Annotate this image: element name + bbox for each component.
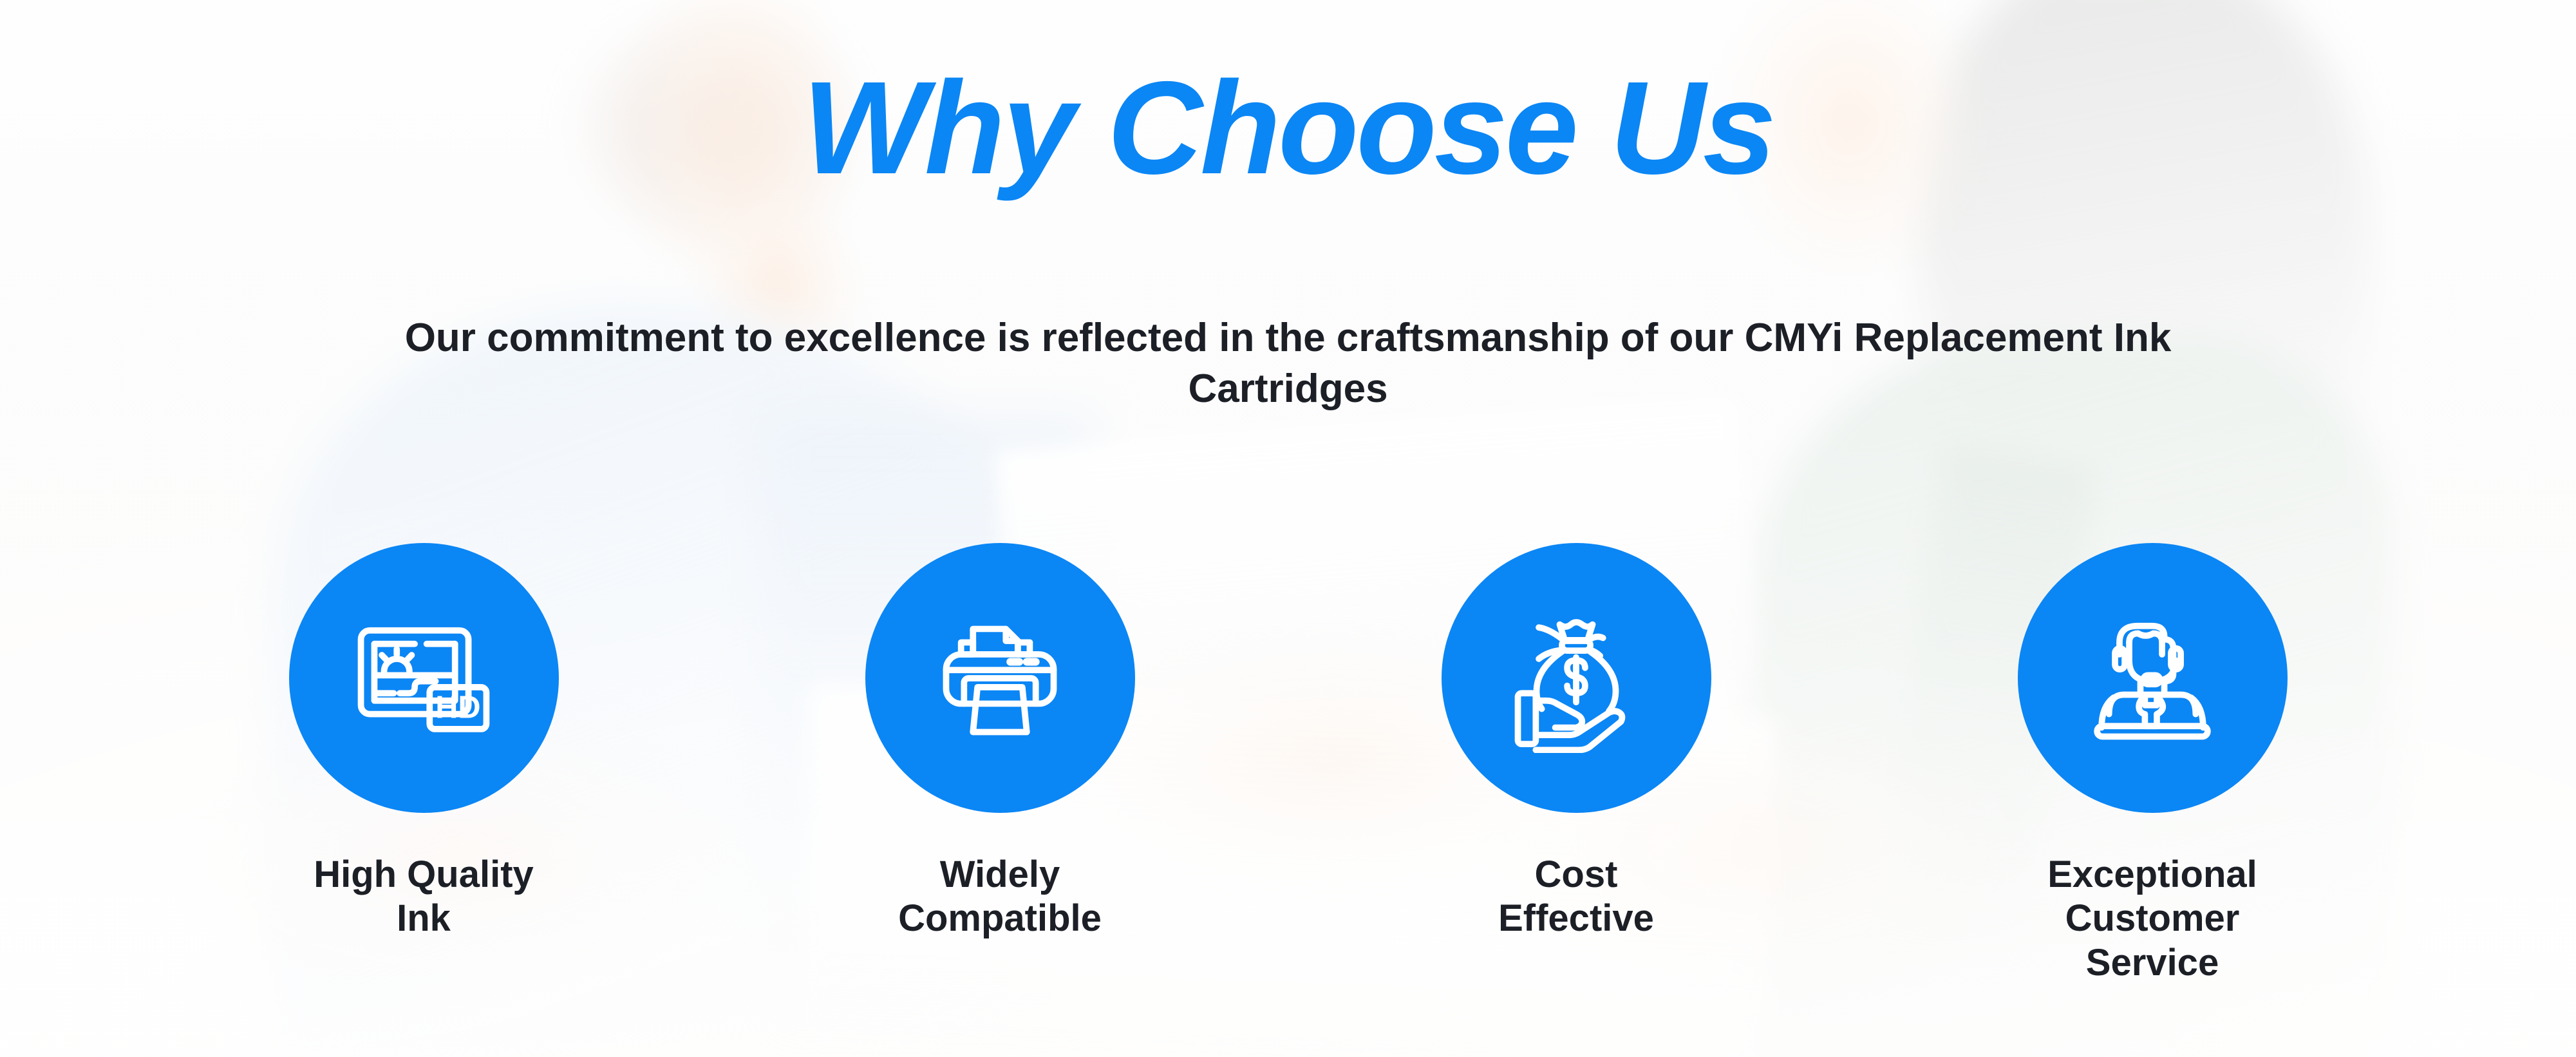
icon-badge-circle: HD xyxy=(289,543,559,813)
feature-label: Exceptional Customer Service xyxy=(2018,853,2288,985)
customer-support-agent-icon xyxy=(2078,604,2227,753)
icon-badge-circle xyxy=(2018,543,2288,813)
hd-badge-label: HD xyxy=(435,690,480,725)
feature-item-customer-service[interactable]: Exceptional Customer Service xyxy=(2018,543,2288,985)
feature-item-cost-effective[interactable]: Cost Effective xyxy=(1442,543,1711,941)
banner-content: Why Choose Us Our commitment to excellen… xyxy=(0,0,2576,1057)
feature-label: High Quality Ink xyxy=(314,853,534,941)
feature-label: Widely Compatible xyxy=(898,853,1102,941)
feature-item-widely-compatible[interactable]: Widely Compatible xyxy=(865,543,1135,941)
feature-label: Cost Effective xyxy=(1498,853,1654,941)
hd-photo-icon: HD xyxy=(349,604,498,753)
icon-badge-circle xyxy=(865,543,1135,813)
hand-holding-money-bag-icon xyxy=(1501,604,1651,753)
page-title: Why Choose Us xyxy=(0,62,2576,194)
why-choose-us-banner: Why Choose Us Our commitment to excellen… xyxy=(0,0,2576,1057)
feature-item-high-quality-ink[interactable]: HD High Quality Ink xyxy=(289,543,559,941)
icon-badge-circle xyxy=(1442,543,1711,813)
feature-list: HD High Quality Ink xyxy=(0,543,2576,985)
page-subtitle: Our commitment to excellence is reflecte… xyxy=(339,312,2238,415)
printer-icon xyxy=(925,604,1075,753)
